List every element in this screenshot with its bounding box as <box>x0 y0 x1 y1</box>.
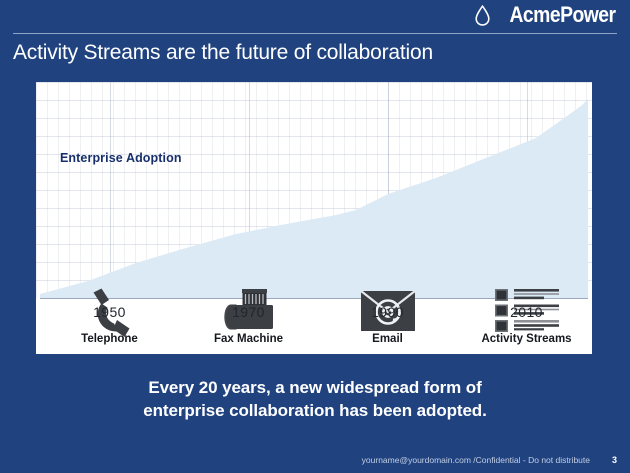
brand-logo: AcmePower <box>475 3 616 27</box>
x-name-label: Activity Streams <box>457 332 592 346</box>
slide: AcmePower Activity Streams are the futur… <box>0 0 630 473</box>
footer-confidential-text: yourname@yourdomain.com /Confidential - … <box>362 454 590 466</box>
slide-caption: Every 20 years, a new widespread form of… <box>0 376 630 422</box>
adoption-area-series <box>36 82 592 298</box>
x-name-label: Telephone <box>40 332 179 346</box>
caption-line-1: Every 20 years, a new widespread form of <box>0 376 630 399</box>
x-name-label: Fax Machine <box>179 332 318 346</box>
x-name-label: Email <box>318 332 457 346</box>
water-droplet-icon <box>475 5 490 26</box>
x-year-label: 1950 <box>40 304 179 321</box>
header-divider <box>13 33 617 34</box>
x-year-label: 2010 <box>457 304 592 321</box>
page-number: 3 <box>612 454 617 466</box>
brand-name: AcmePower <box>510 3 616 27</box>
chart-card: Enterprise Adoption <box>36 82 592 354</box>
x-year-label: 1970 <box>179 304 318 321</box>
chart-y-axis-label: Enterprise Adoption <box>60 151 182 165</box>
slide-header: AcmePower <box>0 0 630 34</box>
chart-plot-area: Enterprise Adoption <box>36 82 592 298</box>
slide-title: Activity Streams are the future of colla… <box>13 40 613 66</box>
x-category-telephone: 1950 Telephone <box>40 304 179 346</box>
caption-line-2: enterprise collaboration has been adopte… <box>0 399 630 422</box>
slide-footer: yourname@yourdomain.com /Confidential - … <box>0 454 630 468</box>
x-category-fax-machine: 1970 Fax Machine <box>179 304 318 346</box>
x-category-email: 1990 Email <box>318 304 457 346</box>
x-year-label: 1990 <box>318 304 457 321</box>
x-category-activity-streams: 2010 Activity Streams <box>457 304 592 346</box>
